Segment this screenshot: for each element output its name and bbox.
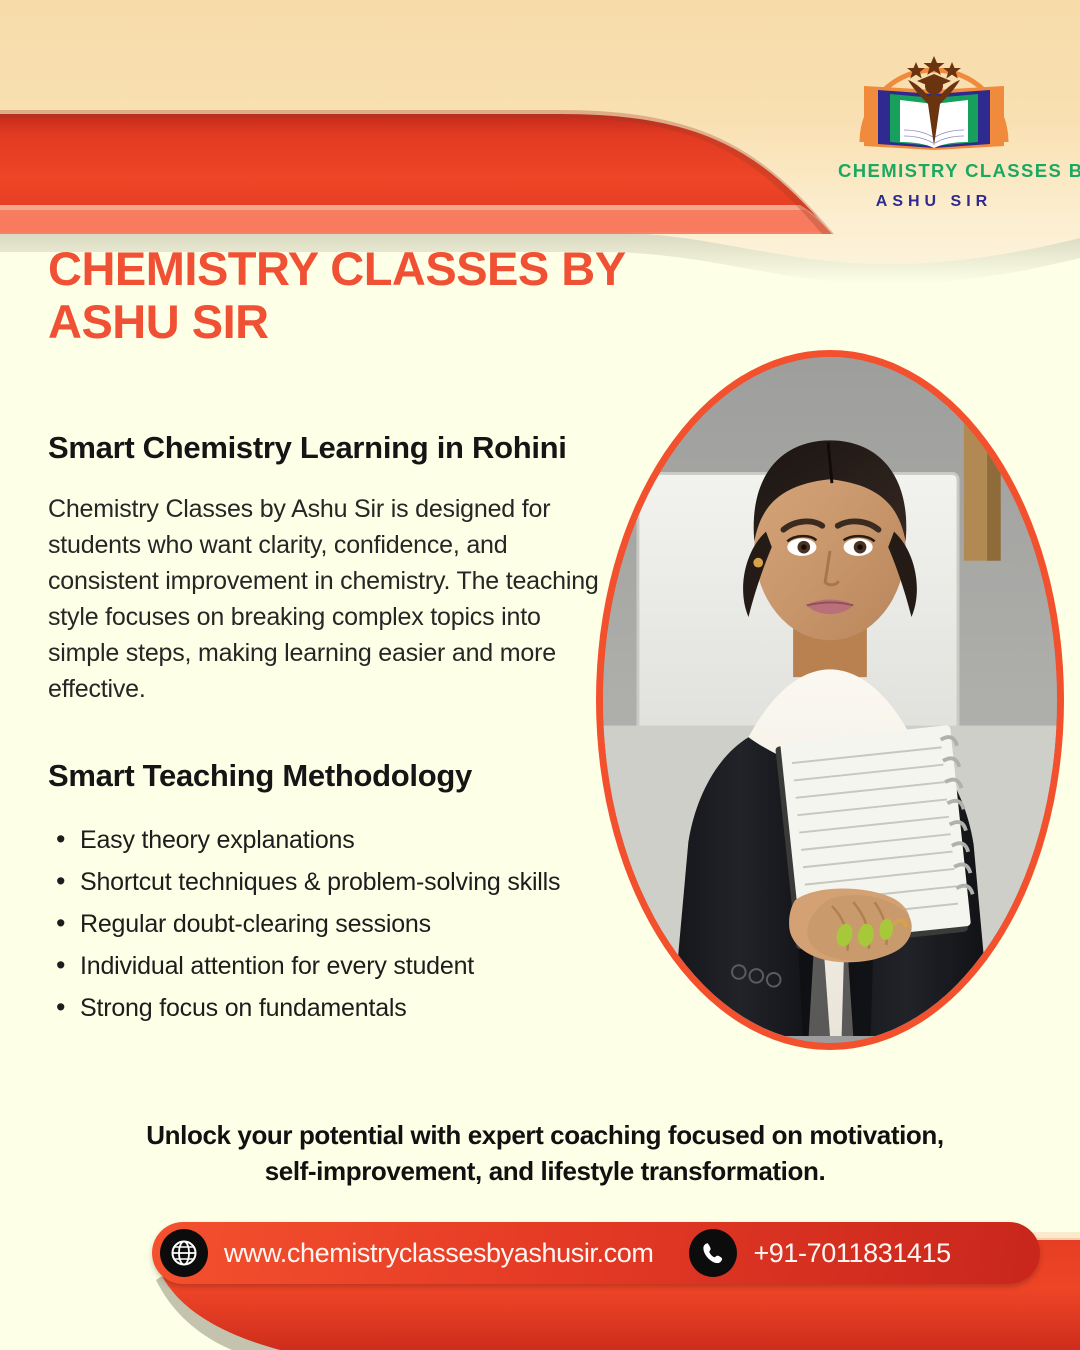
phone-icon [689, 1229, 737, 1277]
methodology-list: Easy theory explanations Shortcut techni… [48, 824, 608, 1025]
section-body-learning: Chemistry Classes by Ashu Sir is designe… [48, 491, 608, 707]
phone-text[interactable]: +91-7011831415 [753, 1238, 950, 1269]
instructor-portrait-illustration [603, 357, 1057, 1036]
list-item: Strong focus on fundamentals [48, 992, 608, 1025]
list-item: Individual attention for every student [48, 950, 608, 983]
logo-text-secondary: ASHU SIR [838, 193, 1030, 211]
photo-circle-frame [596, 350, 1064, 1050]
page-title: CHEMISTRY CLASSES BY ASHU SIR [48, 243, 668, 348]
contact-bar: www.chemistryclassesbyashusir.com +91-70… [152, 1222, 1040, 1284]
instructor-photo [596, 350, 1064, 1050]
list-item: Regular doubt-clearing sessions [48, 908, 608, 941]
section-title-methodology: Smart Teaching Methodology [48, 755, 608, 798]
section-title-learning: Smart Chemistry Learning in Rohini [48, 428, 608, 469]
logo-text-primary: CHEMISTRY CLASSES BY [838, 160, 1030, 182]
website-text[interactable]: www.chemistryclassesbyashusir.com [224, 1238, 653, 1269]
globe-icon [160, 1229, 208, 1277]
list-item: Shortcut techniques & problem-solving sk… [48, 866, 608, 899]
tagline: Unlock your potential with expert coachi… [130, 1118, 960, 1190]
poster: CHEMISTRY CLASSES BY ASHU SIR CHEMISTRY … [0, 0, 1080, 1350]
content-column: Smart Chemistry Learning in Rohini Chemi… [48, 428, 608, 1034]
graduate-book-logo-icon [838, 38, 1030, 158]
list-item: Easy theory explanations [48, 824, 608, 857]
brand-logo: CHEMISTRY CLASSES BY ASHU SIR [838, 38, 1030, 218]
